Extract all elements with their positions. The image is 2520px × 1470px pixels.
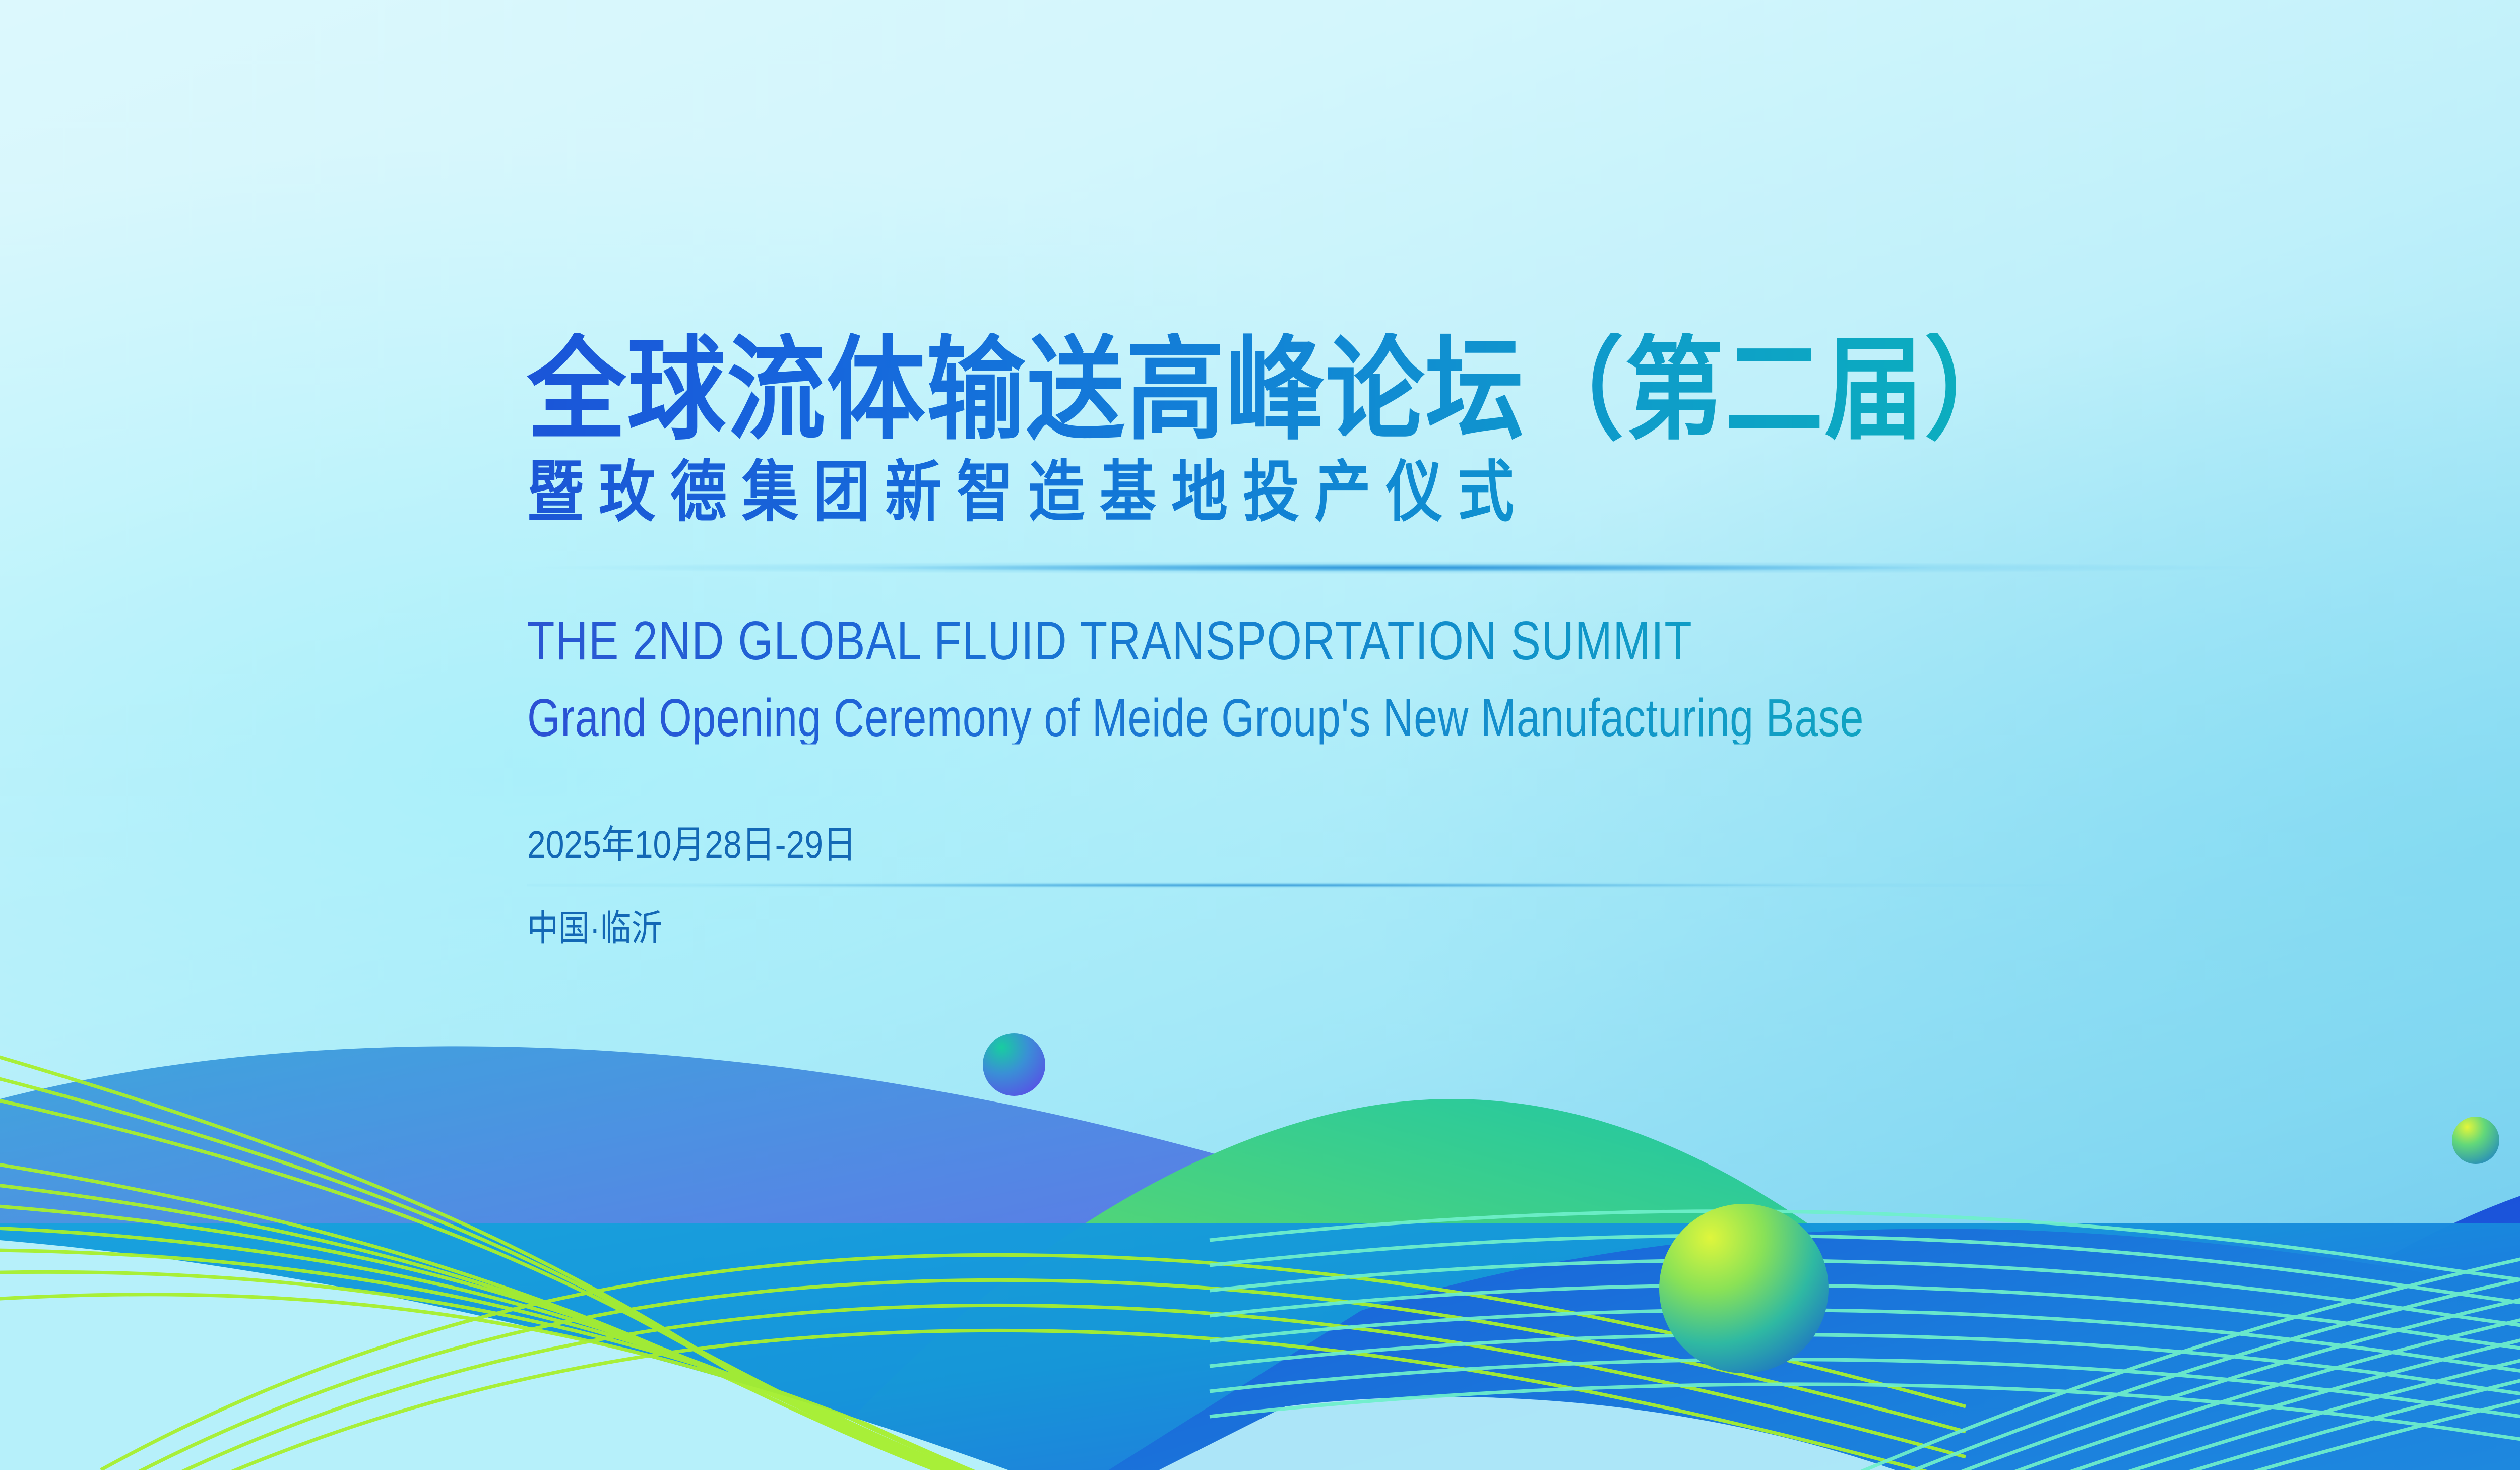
- sub-title-en: Grand Opening Ceremony of Meide Group's …: [527, 691, 2520, 745]
- event-meta: 2025年10月28日-29日 中国·临沂: [527, 825, 2520, 942]
- event-banner: 全球流体输送高峰论坛（第二届） 暨玫德集团新智造基地投产仪式 THE 2ND G…: [0, 0, 2520, 1470]
- meta-divider-rule: [527, 882, 2271, 889]
- sub-title-cn: 暨玫德集团新智造基地投产仪式: [527, 457, 2520, 529]
- headline-block: 全球流体输送高峰论坛（第二届） 暨玫德集团新智造基地投产仪式 THE 2ND G…: [527, 333, 2520, 942]
- title-divider-glow: [527, 561, 2271, 574]
- small-blue-sphere: [983, 1033, 1045, 1096]
- main-title-en: THE 2ND GLOBAL FLUID TRANSPORTATION SUMM…: [527, 614, 2520, 668]
- event-location: 中国·临沂: [527, 911, 2520, 947]
- small-green-sphere: [2452, 1117, 2499, 1164]
- main-title-cn: 全球流体输送高峰论坛（第二届）: [527, 333, 2520, 448]
- large-green-sphere: [1659, 1204, 1829, 1373]
- event-date: 2025年10月28日-29日: [527, 825, 2520, 864]
